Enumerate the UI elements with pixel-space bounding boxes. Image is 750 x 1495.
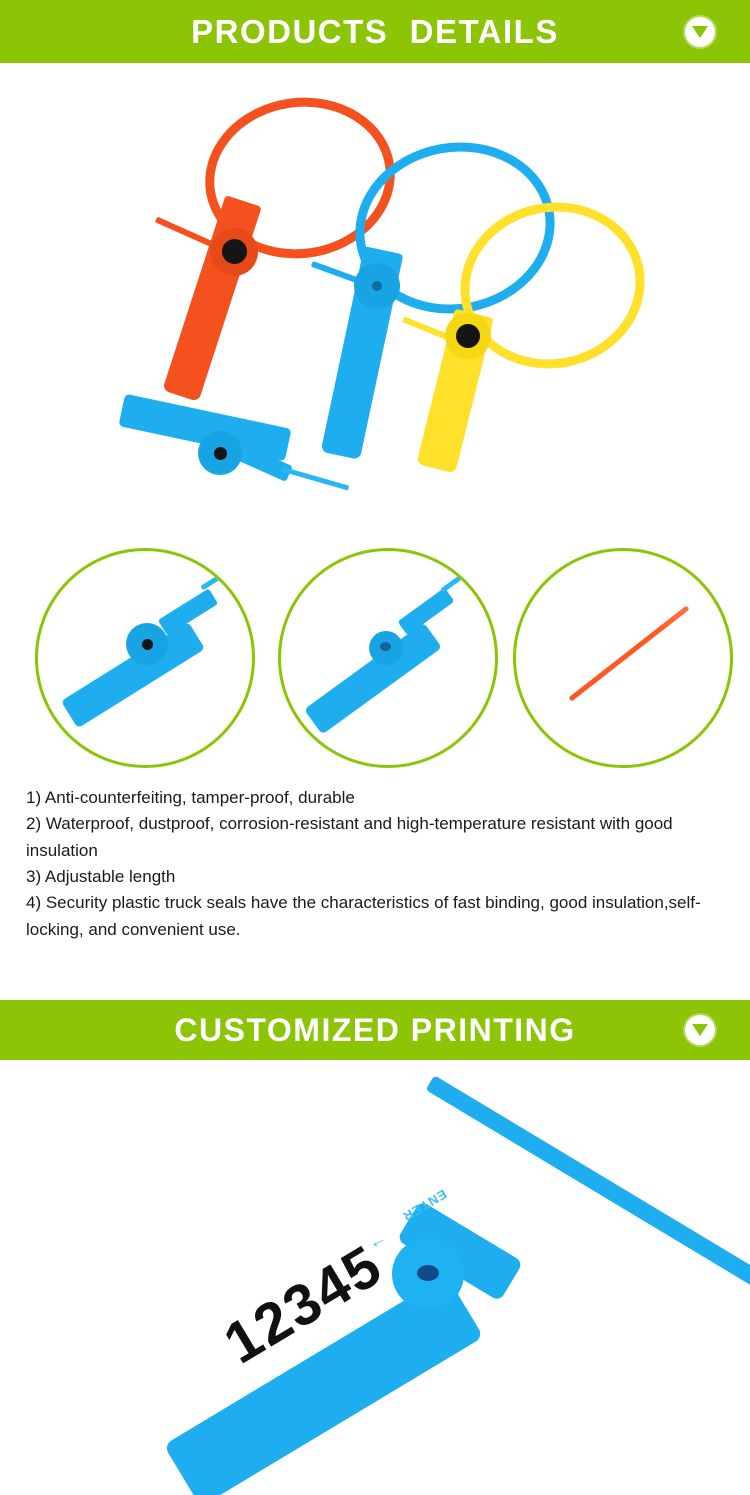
feature-item: 4) Security plastic truck seals have the…: [26, 890, 726, 943]
section-title: PRODUCTS DETAILS: [191, 15, 559, 48]
seal-lock-hole: [142, 639, 153, 650]
feature-item: 2) Waterproof, dustproof, corrosion-resi…: [26, 811, 726, 864]
section-title: CUSTOMIZED PRINTING: [174, 1014, 575, 1046]
product-seal-yellow: [415, 203, 685, 493]
seal-strap-tail: [440, 558, 485, 593]
seal-lock-hole: [372, 281, 382, 291]
printed-seal: ← ENTER 12345: [100, 1080, 750, 1495]
customized-printing-photo: ← ENTER 12345: [0, 1060, 750, 1495]
product-photo-main: [0, 63, 750, 723]
triangle-down-icon: [692, 1024, 708, 1036]
seal-lock-hole: [380, 642, 391, 651]
seal-lock-hole: [214, 447, 227, 460]
product-details-page: PRODUCTS DETAILS: [0, 0, 750, 1495]
seal-strap-tail: [281, 466, 350, 490]
detail-callouts: [0, 548, 750, 773]
triangle-down-icon: [692, 26, 708, 38]
callout-circle-seal-head-middle: [278, 548, 498, 768]
seal-strap-tail: [200, 561, 243, 591]
product-feature-list: 1) Anti-counterfeiting, tamper-proof, du…: [26, 785, 726, 943]
seal-lock-hole: [456, 324, 480, 348]
seal-lock-hole: [417, 1265, 439, 1281]
section-toggle-button[interactable]: [685, 1015, 715, 1045]
callout-circle-seal-head-left: [35, 548, 255, 768]
section-toggle-button[interactable]: [685, 17, 715, 47]
seal-lock-hole: [222, 239, 247, 264]
product-seal-single-blue: [110, 393, 350, 523]
section-header-products-details: PRODUCTS DETAILS: [0, 0, 750, 63]
callout-circle-strap-tip: [513, 548, 733, 768]
section-header-customized-printing: CUSTOMIZED PRINTING: [0, 1000, 750, 1060]
feature-item: 3) Adjustable length: [26, 864, 726, 890]
feature-item: 1) Anti-counterfeiting, tamper-proof, du…: [26, 785, 726, 811]
strap-tip: [568, 605, 689, 701]
